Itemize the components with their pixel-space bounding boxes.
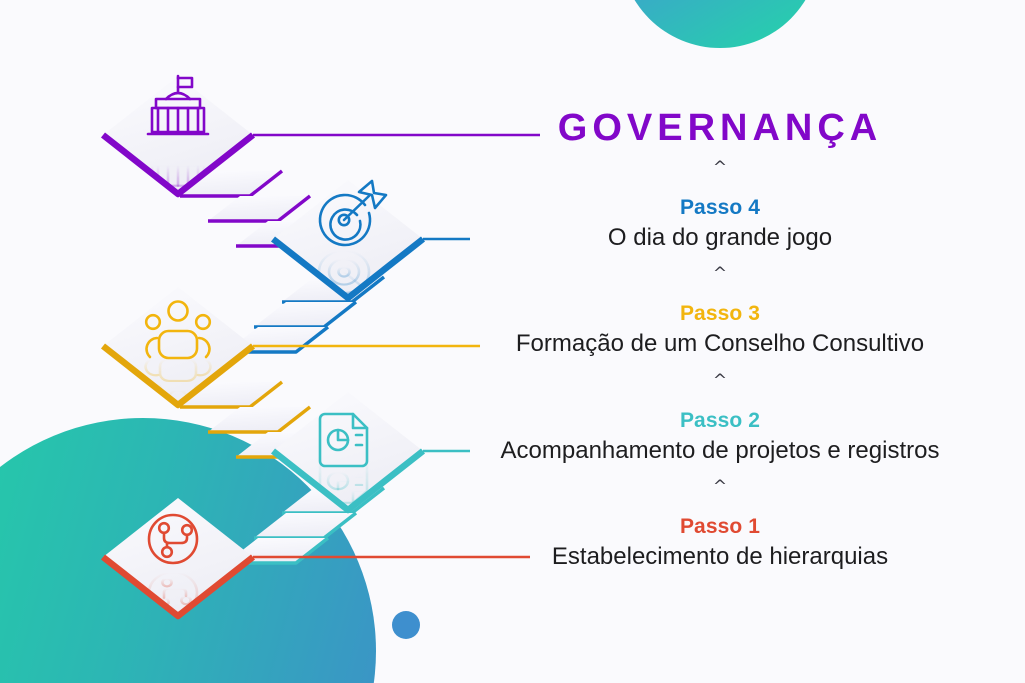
- infographic-canvas: GOVERNANÇA ^ Passo 4 O dia do grande jog…: [0, 0, 1025, 683]
- step-block-passo-2[interactable]: Passo 2 Acompanhamento de projetos e reg…: [440, 409, 1000, 466]
- caret-separator-3: ^: [440, 266, 1000, 283]
- step-description-passo-4: O dia do grande jogo: [440, 224, 1000, 253]
- step-block-passo-4[interactable]: Passo 4 O dia do grande jogo: [440, 196, 1000, 253]
- step-kicker-passo-2: Passo 2: [440, 409, 1000, 433]
- step-block-passo-1[interactable]: Passo 1 Estabelecimento de hierarquias: [440, 515, 1000, 572]
- step-kicker-passo-4: Passo 4: [440, 196, 1000, 220]
- step-block-passo-3[interactable]: Passo 3 Formação de um Conselho Consulti…: [440, 302, 1000, 359]
- step-description-passo-3: Formação de um Conselho Consultivo: [440, 330, 1000, 359]
- step-kicker-passo-1: Passo 1: [440, 515, 1000, 539]
- title-block: GOVERNANÇA: [440, 108, 1000, 150]
- caret-separator-4: ^: [440, 160, 1000, 177]
- caret-separator-2: ^: [440, 373, 1000, 390]
- step-description-passo-1: Estabelecimento de hierarquias: [440, 543, 1000, 572]
- steps-text-column: GOVERNANÇA ^ Passo 4 O dia do grande jog…: [440, 0, 1025, 683]
- page-title: GOVERNANÇA: [440, 108, 1000, 150]
- step-description-passo-2: Acompanhamento de projetos e registros: [440, 437, 1000, 466]
- step-kicker-passo-3: Passo 3: [440, 302, 1000, 326]
- caret-separator-1: ^: [440, 479, 1000, 496]
